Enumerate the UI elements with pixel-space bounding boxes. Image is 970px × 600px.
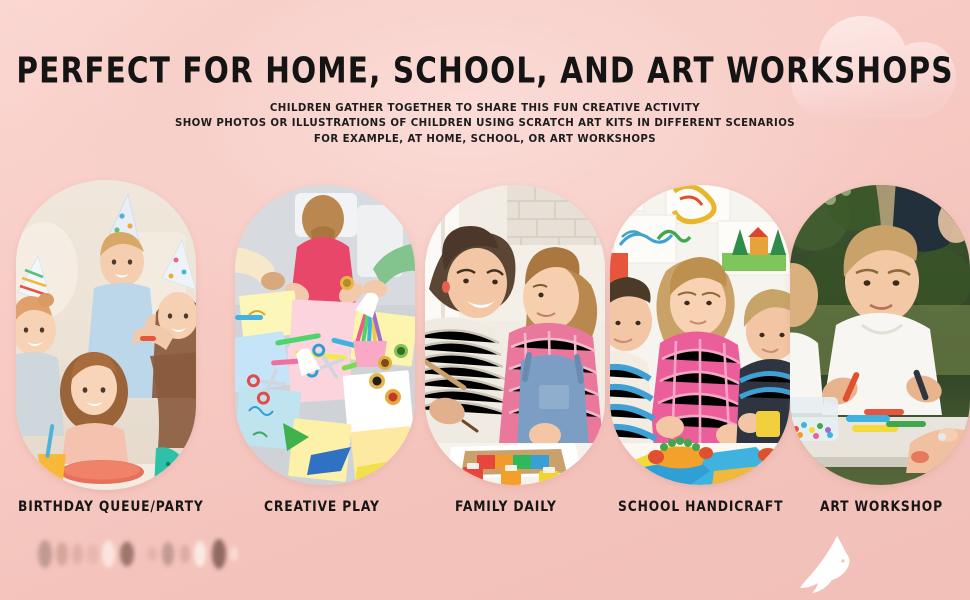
card-label-art-workshop: ART WORKSHOP — [820, 498, 943, 514]
dove-icon — [793, 530, 863, 600]
card-label-family-daily: FAMILY DAILY — [455, 498, 557, 514]
card-label-birthday: BIRTHDAY QUEUE/PARTY — [18, 498, 204, 514]
photo-school-handicraft — [610, 185, 790, 485]
photo-card-family-daily[interactable] — [425, 185, 605, 485]
card-label-creative-play: CREATIVE PLAY — [264, 498, 380, 514]
photo-card-row — [0, 180, 970, 490]
blurred-dots-decoration — [36, 533, 216, 575]
subtitle-block: CHILDREN GATHER TOGETHER TO SHARE THIS F… — [0, 101, 970, 147]
card-label-school-handicraft: SCHOOL HANDICRAFT — [618, 498, 783, 514]
photo-creative-play — [235, 185, 415, 485]
card-label-row: BIRTHDAY QUEUE/PARTY CREATIVE PLAY FAMIL… — [0, 498, 970, 520]
photo-card-birthday[interactable] — [16, 180, 196, 490]
photo-birthday — [16, 180, 196, 490]
subtitle-line-3: FOR EXAMPLE, AT HOME, SCHOOL, OR ART WOR… — [0, 131, 970, 148]
subtitle-line-2: SHOW PHOTOS OR ILLUSTRATIONS OF CHILDREN… — [0, 116, 970, 133]
photo-family-daily — [425, 185, 605, 485]
photo-card-art-workshop[interactable] — [790, 185, 970, 485]
promo-banner: PERFECT FOR HOME, SCHOOL, AND ART WORKSH… — [0, 0, 970, 600]
headline-block: PERFECT FOR HOME, SCHOOL, AND ART WORKSH… — [0, 52, 970, 83]
photo-card-school-handicraft[interactable] — [610, 185, 790, 485]
photo-card-creative-play[interactable] — [235, 185, 415, 485]
photo-art-workshop — [790, 185, 970, 485]
page-title: PERFECT FOR HOME, SCHOOL, AND ART WORKSH… — [0, 52, 970, 90]
